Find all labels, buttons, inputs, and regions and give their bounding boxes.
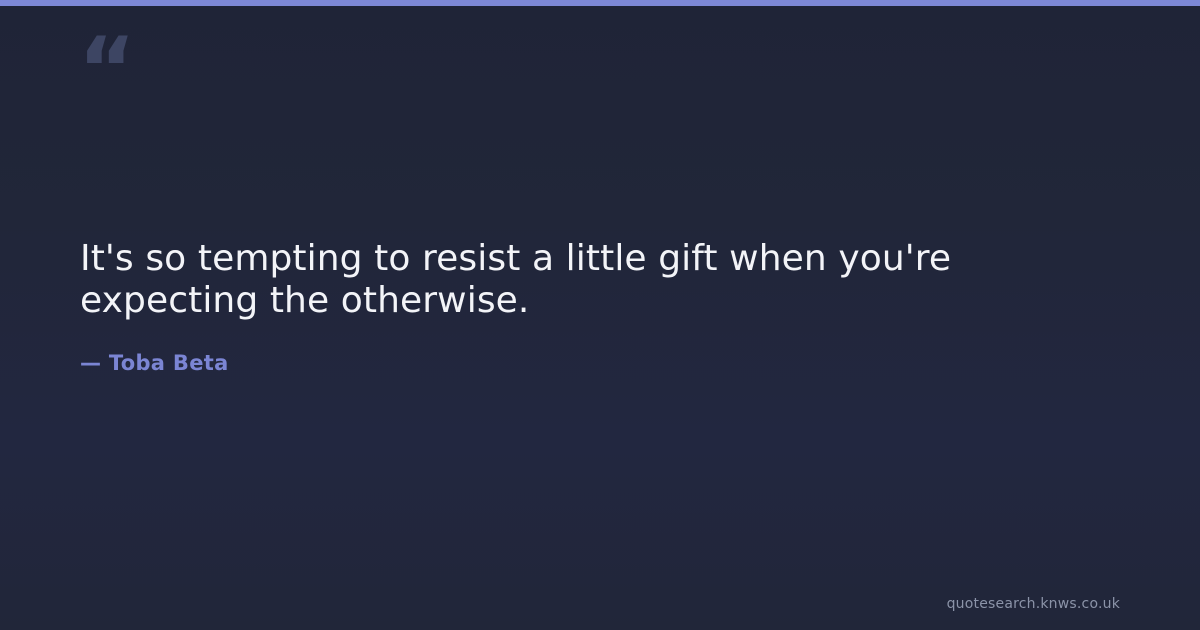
- quote-content: It's so tempting to resist a little gift…: [80, 238, 1090, 376]
- site-watermark: quotesearch.knws.co.uk: [947, 596, 1120, 612]
- quote-card: “ It's so tempting to resist a little gi…: [0, 0, 1200, 630]
- quote-text: It's so tempting to resist a little gift…: [80, 238, 1090, 322]
- quote-author: — Toba Beta: [80, 322, 1090, 376]
- open-quote-icon: “: [78, 26, 134, 114]
- top-accent-bar: [0, 0, 1200, 6]
